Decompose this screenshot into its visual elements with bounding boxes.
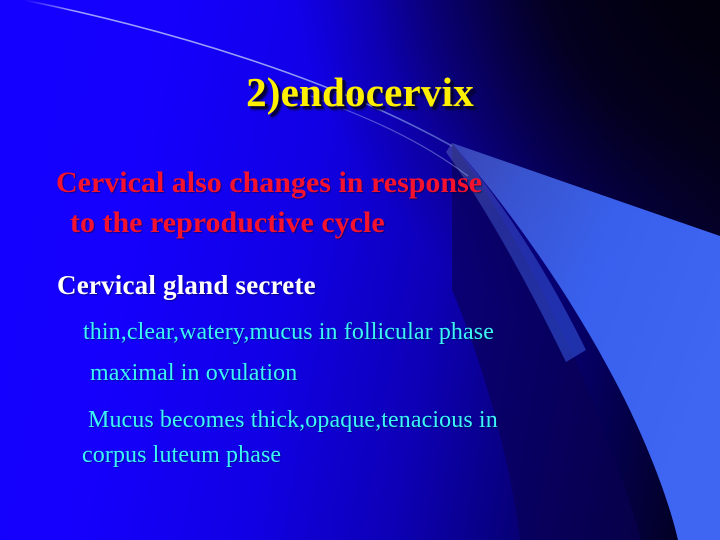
closing-text-line-1: Mucus becomes thick,opaque,tenacious in <box>88 407 498 433</box>
closing-text-block: Mucus becomes thick,opaque,tenacious in … <box>88 405 668 471</box>
slide-canvas: 2)endocervix Cervical also changes in re… <box>0 0 720 540</box>
page-title: 2)endocervix <box>0 68 720 116</box>
red-heading-block: Cervical also changes in response to the… <box>56 163 656 242</box>
red-heading-line-1: Cervical also changes in response <box>56 166 482 199</box>
bullet-text-2: maximal in ovulation <box>90 358 297 389</box>
slide-content: 2)endocervix Cervical also changes in re… <box>0 0 720 540</box>
closing-text-line-2: corpus luteum phase <box>82 440 668 471</box>
red-heading-line-2: to the reproductive cycle <box>56 203 656 243</box>
white-subheading: Cervical gland secrete <box>57 270 316 301</box>
bullet-text-1: thin,clear,watery,mucus in follicular ph… <box>83 317 494 348</box>
